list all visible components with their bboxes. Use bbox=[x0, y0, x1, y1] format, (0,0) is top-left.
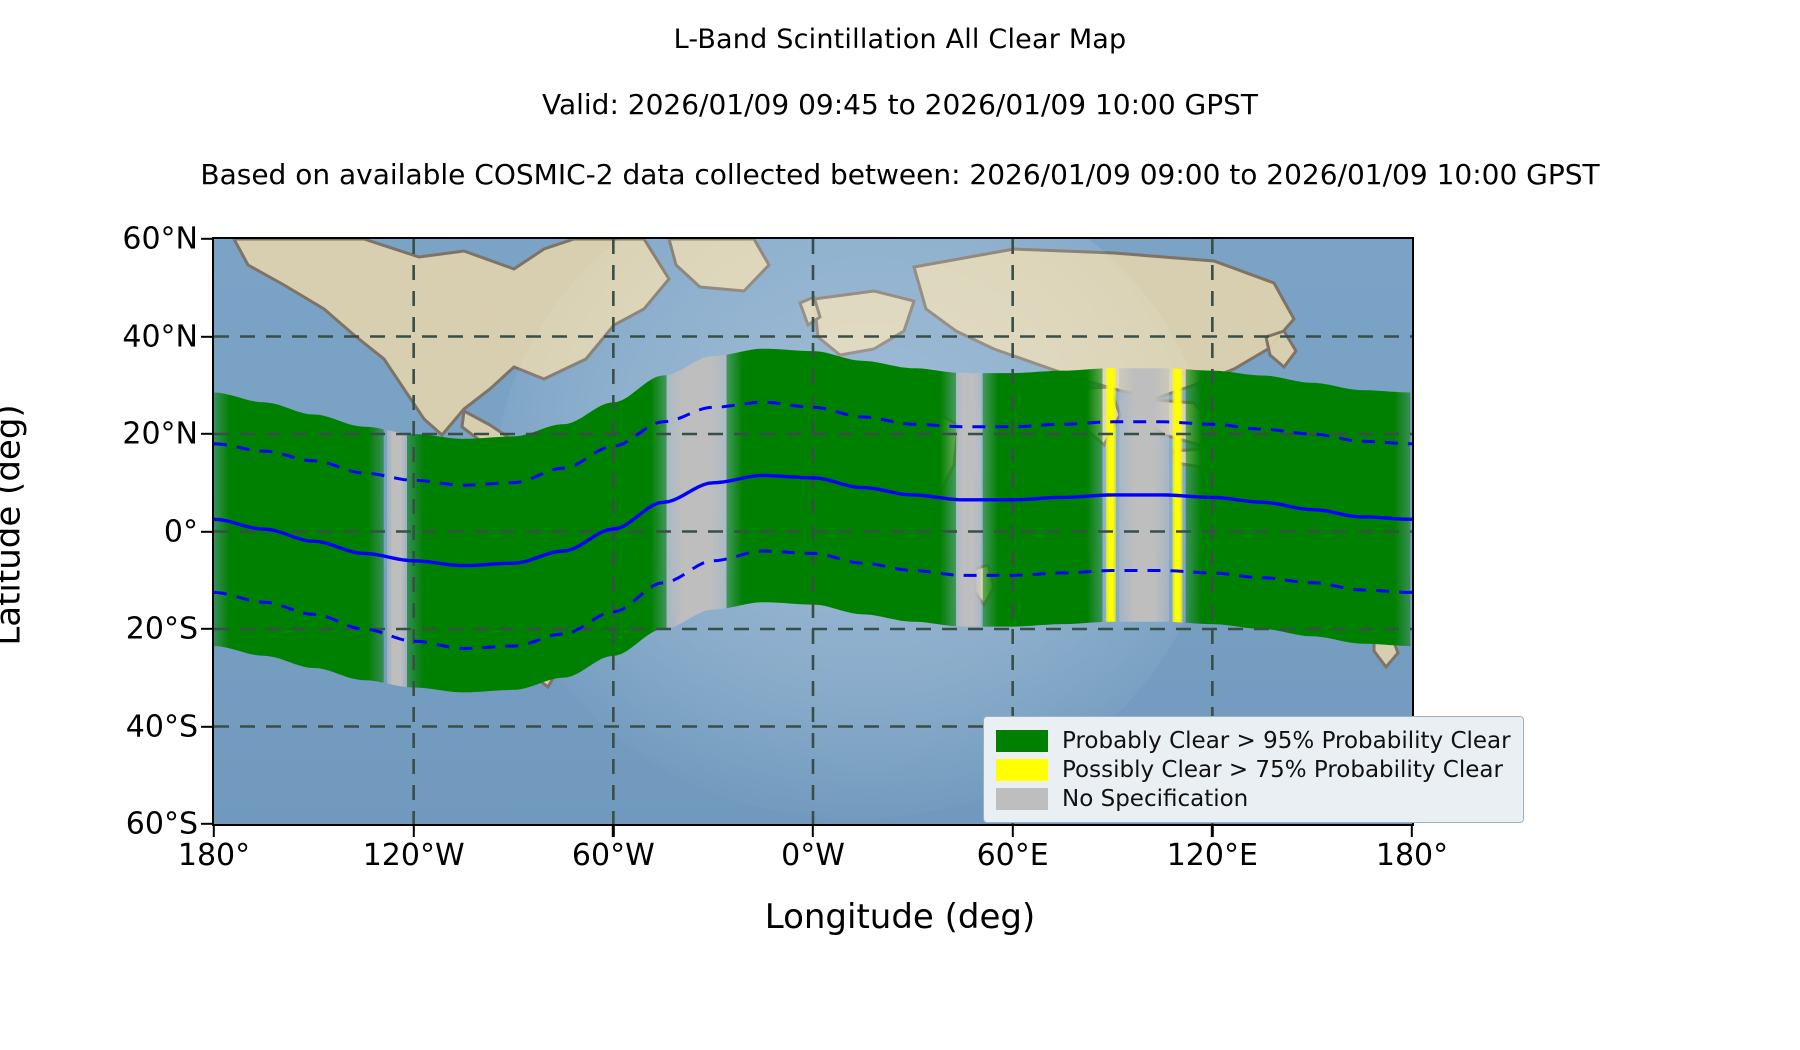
x-tick-mark-1 bbox=[412, 826, 414, 837]
x-tick-label-6: 180° bbox=[1376, 838, 1448, 873]
source-subtitle: Based on available COSMIC-2 data collect… bbox=[0, 158, 1800, 191]
x-tick-mark-2 bbox=[612, 826, 614, 837]
legend-swatch-possibly-clear bbox=[996, 759, 1048, 781]
coverage-band-probably-clear bbox=[727, 349, 957, 627]
y-axis-label: Latitude (deg) bbox=[0, 404, 29, 645]
y-tick-mark-1 bbox=[201, 335, 212, 337]
y-tick-label-6: 60°S bbox=[126, 807, 198, 842]
legend-item-probably-clear[interactable]: Probably Clear > 95% Probability Clear bbox=[996, 726, 1511, 755]
x-tick-mark-6 bbox=[1411, 826, 1413, 837]
legend-label-probably-clear: Probably Clear > 95% Probability Clear bbox=[1062, 728, 1511, 754]
x-tick-label-3: 0°W bbox=[781, 838, 845, 873]
y-tick-label-0: 60°N bbox=[122, 222, 198, 257]
x-tick-mark-5 bbox=[1211, 826, 1213, 837]
coverage-band-no-specification bbox=[667, 355, 727, 629]
y-tick-mark-2 bbox=[201, 433, 212, 435]
legend-label-no-specification: No Specification bbox=[1062, 786, 1248, 812]
y-tick-mark-0 bbox=[201, 238, 212, 240]
legend-swatch-probably-clear bbox=[996, 730, 1048, 752]
y-tick-label-5: 40°S bbox=[126, 709, 198, 744]
legend-label-possibly-clear: Possibly Clear > 75% Probability Clear bbox=[1062, 757, 1503, 783]
x-axis-label: Longitude (deg) bbox=[0, 897, 1800, 937]
x-tick-mark-3 bbox=[812, 826, 814, 837]
valid-subtitle: Valid: 2026/01/09 09:45 to 2026/01/09 10… bbox=[0, 88, 1800, 121]
y-tick-mark-4 bbox=[201, 628, 212, 630]
x-tick-label-5: 120°E bbox=[1167, 838, 1258, 873]
x-tick-mark-0 bbox=[213, 826, 215, 837]
x-tick-label-2: 60°W bbox=[572, 838, 655, 873]
x-tick-mark-4 bbox=[1011, 826, 1013, 837]
x-tick-label-0: 180° bbox=[178, 838, 250, 873]
x-tick-label-1: 120°W bbox=[363, 838, 465, 873]
page-title: L-Band Scintillation All Clear Map bbox=[0, 24, 1800, 55]
x-tick-label-4: 60°E bbox=[977, 838, 1049, 873]
y-tick-mark-6 bbox=[201, 823, 212, 825]
legend-item-possibly-clear[interactable]: Possibly Clear > 75% Probability Clear bbox=[996, 755, 1511, 784]
y-tick-label-4: 20°S bbox=[126, 612, 198, 647]
legend-item-no-specification[interactable]: No Specification bbox=[996, 784, 1511, 813]
y-tick-label-3: 0° bbox=[164, 514, 198, 549]
y-tick-label-1: 40°N bbox=[122, 319, 198, 354]
y-tick-label-2: 20°N bbox=[122, 417, 198, 452]
y-tick-mark-3 bbox=[201, 530, 212, 532]
scintillation-map-figure: L-Band Scintillation All Clear Map Valid… bbox=[0, 0, 1800, 1050]
legend[interactable]: Probably Clear > 95% Probability ClearPo… bbox=[983, 716, 1524, 823]
legend-swatch-no-specification bbox=[996, 788, 1048, 810]
y-tick-mark-5 bbox=[201, 725, 212, 727]
